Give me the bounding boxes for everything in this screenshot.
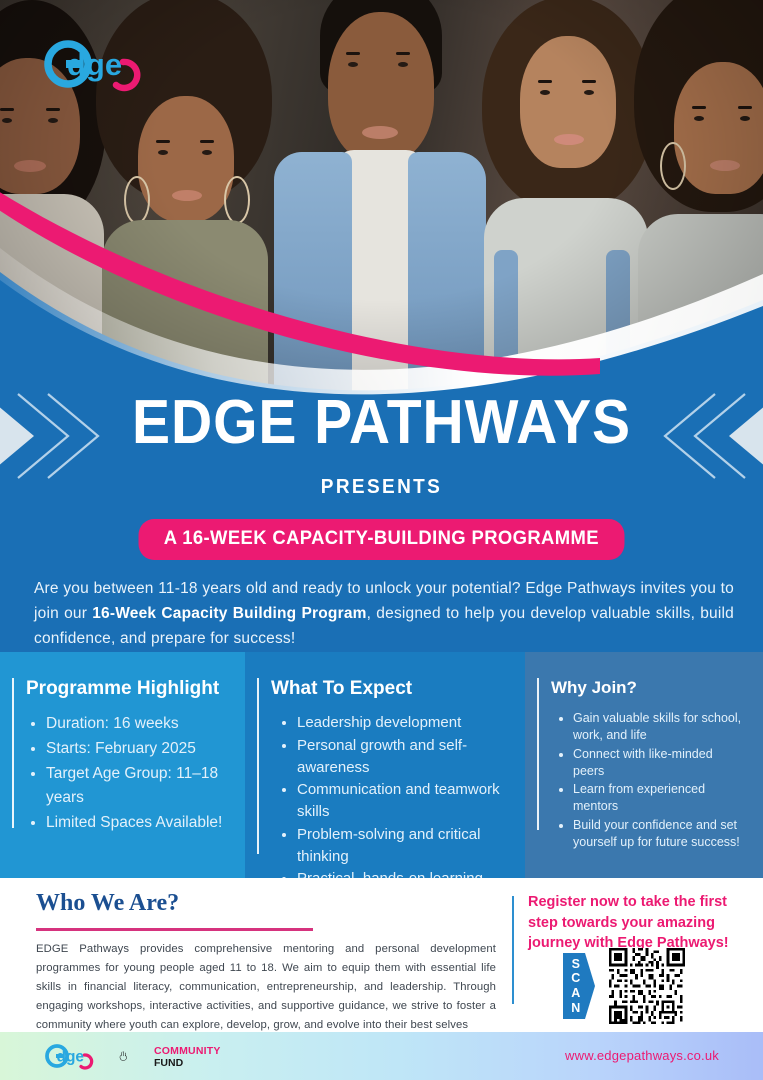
who-we-are-body: EDGE Pathways provides comprehensive men…	[36, 940, 496, 1035]
list-item: Leadership development	[297, 712, 509, 734]
community-fund-text-1: COMMUNITY	[154, 1045, 221, 1057]
scan-label: S C A N	[561, 951, 591, 1021]
community-fund-text-2: FUND	[154, 1057, 183, 1069]
accent-rule	[12, 678, 14, 828]
feature-columns: Programme Highlight Duration: 16 weeks S…	[0, 652, 763, 878]
scan-letter-c: C	[571, 971, 581, 986]
title-block: EDGE PATHWAYS PRESENTS A 16-WEEK CAPACIT…	[0, 392, 763, 560]
community-fund-logo: COMMUNITY FUND	[118, 1040, 222, 1072]
scan-letter-a: A	[571, 986, 581, 1001]
list-item: Starts: February 2025	[46, 737, 229, 761]
column-heading: Programme Highlight	[26, 678, 229, 700]
column-why-join: Why Join? Gain valuable skills for schoo…	[525, 652, 763, 878]
column-list: Duration: 16 weeks Starts: February 2025…	[26, 712, 229, 835]
list-item: Build your confidence and set yourself u…	[573, 817, 747, 852]
accent-rule	[257, 678, 259, 854]
who-we-are-heading: Who We Are?	[36, 890, 179, 917]
register-cta-text: Register now to take the first step towa…	[528, 892, 753, 954]
accent-rule	[537, 678, 539, 830]
programme-badge: A 16-WEEK CAPACITY-BUILDING PROGRAMME	[139, 519, 625, 560]
list-item: Communication and teamwork skills	[297, 779, 509, 823]
list-item: Personal growth and self-awareness	[297, 735, 509, 779]
crossed-fingers-icon	[118, 1040, 152, 1072]
column-what-to-expect: What To Expect Leadership development Pe…	[245, 652, 525, 878]
list-item: Target Age Group: 11–18 years	[46, 762, 229, 810]
qr-code[interactable]	[609, 948, 685, 1024]
edge-logo: dge	[44, 36, 156, 92]
programme-pill-row: A 16-WEEK CAPACITY-BUILDING PROGRAMME	[0, 519, 763, 560]
list-item: Duration: 16 weeks	[46, 712, 229, 736]
page-title: EDGE PATHWAYS	[31, 392, 733, 454]
scan-letter-n: N	[571, 1001, 581, 1016]
list-item: Connect with like-minded peers	[573, 746, 747, 781]
intro-paragraph: Are you between 11-18 years old and read…	[34, 576, 734, 651]
vertical-divider	[512, 896, 514, 1004]
scan-letter-s: S	[572, 957, 581, 972]
column-heading: Why Join?	[551, 678, 747, 698]
column-programme-highlight: Programme Highlight Duration: 16 weeks S…	[0, 652, 245, 878]
intro-bold: 16-Week Capacity Building Program	[92, 605, 366, 622]
column-heading: What To Expect	[271, 678, 509, 700]
list-item: Limited Spaces Available!	[46, 811, 229, 835]
edge-logo-footer: dge	[38, 1042, 108, 1070]
website-url[interactable]: www.edgepathways.co.uk	[565, 1048, 719, 1063]
svg-text:dge: dge	[67, 47, 122, 82]
hero-section: dge	[0, 0, 763, 400]
list-item: Gain valuable skills for school, work, a…	[573, 710, 747, 745]
footer: dge COMMUNITY FUND www.edgepathways.co.u…	[0, 1032, 763, 1080]
heading-underline	[36, 928, 313, 931]
list-item: Problem-solving and critical thinking	[297, 824, 509, 868]
svg-text:dge: dge	[57, 1049, 85, 1066]
column-list: Gain valuable skills for school, work, a…	[551, 710, 747, 851]
list-item: Learn from experienced mentors	[573, 781, 747, 816]
poster: dge EDGE PATHWAYS PRESENTS A 16-WEEK CAP…	[0, 0, 763, 1080]
presents-label: PRESENTS	[19, 476, 744, 499]
who-we-are-section: Who We Are? EDGE Pathways provides compr…	[0, 878, 763, 1032]
